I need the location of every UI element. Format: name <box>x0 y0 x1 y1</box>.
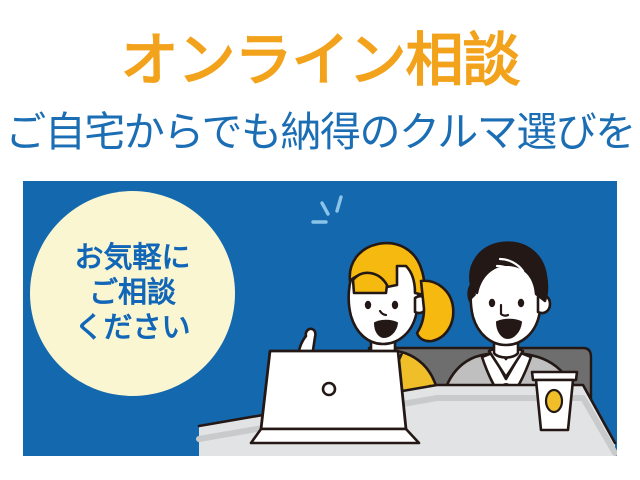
badge-line-3: ください <box>74 311 190 346</box>
page-subtitle: ご自宅からでも納得のクルマ選びを <box>0 108 640 156</box>
illustration-panel: お気軽に ご相談 ください <box>23 181 617 456</box>
sparkle-icon <box>313 197 341 222</box>
badge-line-1: お気軽に <box>74 241 190 276</box>
page-title: オンライン相談 <box>0 30 640 92</box>
heading-block: オンライン相談 ご自宅からでも納得のクルマ選びを <box>0 0 640 176</box>
badge-line-2: ご相談 <box>89 276 176 311</box>
consultation-badge: お気軽に ご相談 ください <box>30 191 235 396</box>
laptop <box>251 351 419 443</box>
promo-banner: オンライン相談 ご自宅からでも納得のクルマ選びを <box>0 0 640 480</box>
